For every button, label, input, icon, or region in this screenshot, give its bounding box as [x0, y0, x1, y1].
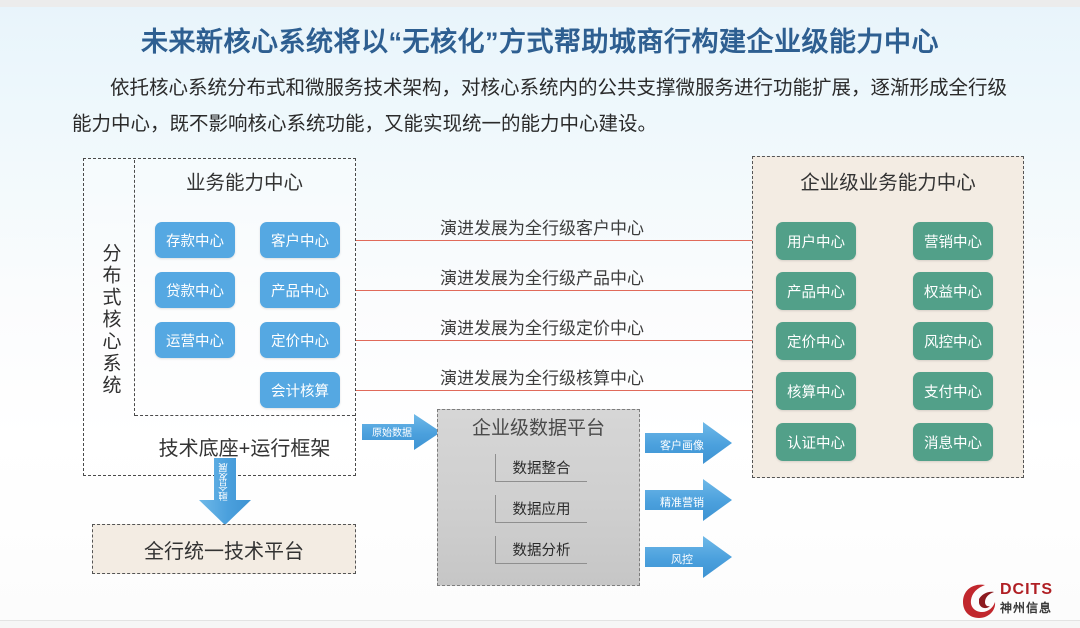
blue-box-operation-center[interactable]: 运营中心: [155, 322, 235, 358]
evolve-label-product: 演进发展为全行级产品中心: [372, 264, 712, 289]
green-box-payment-center[interactable]: 支付中心: [913, 372, 993, 410]
logo-brand-cn-text: 神州信息: [1000, 599, 1052, 616]
blue-box-accounting-center[interactable]: 会计核算: [260, 372, 340, 408]
evolve-label-customer: 演进发展为全行级客户中心: [372, 214, 712, 239]
enterprise-capability-center-title: 企业级业务能力中心: [752, 166, 1024, 195]
blue-box-loan-center[interactable]: 贷款中心: [155, 272, 235, 308]
evolve-line-product: [356, 290, 756, 291]
green-box-message-center[interactable]: 消息中心: [913, 423, 993, 461]
green-box-user-center[interactable]: 用户中心: [776, 222, 856, 260]
evolve-line-pricing: [356, 340, 756, 341]
slide-canvas: 未来新核心系统将以“无核化”方式帮助城商行构建企业级能力中心 依托核心系统分布式…: [0, 0, 1080, 628]
raw-data-arrow-label: 原始数据: [366, 424, 418, 439]
customer-profile-arrow-label: 客户画像: [651, 437, 713, 453]
business-capability-center-title: 业务能力中心: [135, 166, 354, 195]
enterprise-data-platform-title: 企业级数据平台: [437, 413, 640, 440]
green-box-pricing-center[interactable]: 定价中心: [776, 322, 856, 360]
green-box-auth-center[interactable]: 认证中心: [776, 423, 856, 461]
blue-box-product-center[interactable]: 产品中心: [260, 272, 340, 308]
merge-development-arrow-label: 融合发展: [205, 459, 245, 505]
data-platform-item-application[interactable]: 数据应用: [495, 495, 587, 523]
data-platform-item-analysis[interactable]: 数据分析: [495, 536, 587, 564]
evolve-line-customer: [356, 240, 756, 241]
blue-box-pricing-center[interactable]: 定价中心: [260, 322, 340, 358]
precision-marketing-arrow-label: 精准营销: [651, 494, 713, 510]
left-panel-divider-horizontal: [135, 415, 355, 416]
logo-brand-text: DCITS: [1000, 581, 1053, 599]
distributed-core-system-label: 分布式核心系统: [86, 200, 134, 440]
page-subtitle: 依托核心系统分布式和微服务技术架构，对核心系统内的公共支撑微服务进行功能扩展，逐…: [72, 70, 1012, 142]
risk-control-arrow-label: 风控: [651, 551, 713, 567]
top-strip: [0, 0, 1080, 7]
evolve-line-accounting: [356, 390, 756, 391]
green-box-marketing-center[interactable]: 营销中心: [913, 222, 993, 260]
bottom-strip: [0, 620, 1080, 628]
green-box-rights-center[interactable]: 权益中心: [913, 272, 993, 310]
blue-box-deposit-center[interactable]: 存款中心: [155, 222, 235, 258]
evolve-label-accounting: 演进发展为全行级核算中心: [372, 364, 712, 389]
evolve-label-pricing: 演进发展为全行级定价中心: [372, 314, 712, 339]
unified-tech-platform-box: 全行统一技术平台: [92, 524, 356, 574]
left-panel-divider-vertical: [134, 160, 135, 416]
green-box-accounting-center[interactable]: 核算中心: [776, 372, 856, 410]
green-box-risk-center[interactable]: 风控中心: [913, 322, 993, 360]
green-box-product-center[interactable]: 产品中心: [776, 272, 856, 310]
blue-box-customer-center[interactable]: 客户中心: [260, 222, 340, 258]
page-title: 未来新核心系统将以“无核化”方式帮助城商行构建企业级能力中心: [0, 20, 1080, 59]
data-platform-item-integration[interactable]: 数据整合: [495, 454, 587, 482]
